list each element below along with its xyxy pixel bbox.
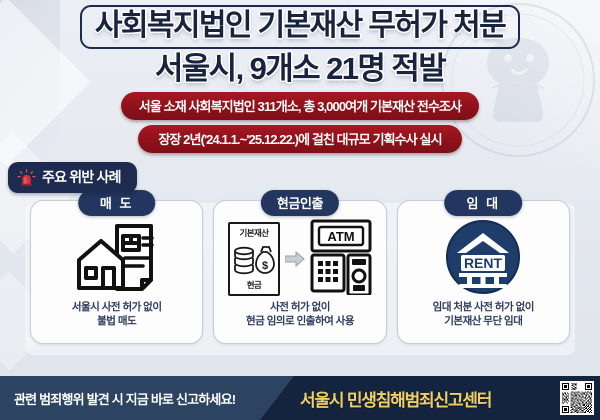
card-lease[interactable]: 임 대 RENT xyxy=(397,200,570,344)
card-sale-caption: 서울시 사전 허가 없이 불법 매도 xyxy=(31,301,202,328)
card-cash-withdrawal[interactable]: 현금인출 기본재산 xyxy=(213,200,386,344)
section-tag-label: 주요 위반 사례 xyxy=(42,167,121,187)
rent-label: RENT xyxy=(464,255,503,271)
siren-icon xyxy=(17,169,36,186)
svg-text:$: $ xyxy=(262,260,268,272)
card-lease-caption: 임대 처분 사전 허가 없이 기본재산 무단 임대 xyxy=(398,301,569,328)
violation-cards: 매 도 xyxy=(30,200,570,344)
card-cash-pill: 현금인출 xyxy=(261,190,339,216)
cash-to-atm-icon: 기본재산 $ 현금 xyxy=(228,219,372,300)
title-outline-box: 사회복지법인 기본재산 무허가 처분 xyxy=(80,5,520,49)
basic-property-box: 기본재산 $ 현금 xyxy=(228,222,280,296)
card-sale[interactable]: 매 도 xyxy=(30,200,203,344)
card-cash-caption-line1: 사전 허가 없이 xyxy=(270,301,330,313)
card-lease-pill: 임 대 xyxy=(445,190,523,216)
box-bottom-label: 현금 xyxy=(247,279,261,291)
atm-label: ATM xyxy=(327,229,354,244)
section-tag-wrap: 주요 위반 사례 xyxy=(0,162,600,193)
banner-group: 서울 소재 사회복지법인 311개소, 총 3,000여개 기본재산 전수조사 … xyxy=(0,92,600,153)
house-document-icon xyxy=(73,220,161,299)
banner-pill: 장장 2년('24.1.1.~'25.12.22.)에 걸친 대규모 기획수사 … xyxy=(138,125,461,153)
footer-bar: 관련 범죄행위 발견 시 지금 바로 신고하세요! 서울시 민생침해범죄신고센터 xyxy=(0,376,600,420)
card-cash-caption-line2: 현금 임의로 인출하여 사용 xyxy=(246,315,354,327)
box-top-label: 기본재산 xyxy=(240,227,269,239)
banner-pill: 서울 소재 사회복지법인 311개소, 총 3,000여개 기본재산 전수조사 xyxy=(121,92,479,120)
page-subtitle: 서울시, 9개소 21명 적발 xyxy=(0,51,600,86)
arrow-right-icon xyxy=(285,251,305,267)
card-cash-art: 기본재산 $ 현금 xyxy=(214,217,385,301)
card-sale-art xyxy=(31,217,202,301)
card-sale-caption-line2: 불법 매도 xyxy=(97,315,136,327)
card-sale-pill: 매 도 xyxy=(78,190,156,216)
card-lease-caption-line1: 임대 처분 사전 허가 없이 xyxy=(433,301,534,313)
footer-report-message: 관련 범죄행위 발견 시 지금 바로 신고하세요! xyxy=(14,376,235,420)
card-lease-caption-line2: 기본재산 무단 임대 xyxy=(444,315,522,327)
section-tag: 주요 위반 사례 xyxy=(8,162,137,193)
page-title: 사회복지법인 기본재산 무허가 처분 xyxy=(95,9,505,43)
card-sale-caption-line1: 서울시 사전 허가 없이 xyxy=(72,301,162,313)
poster-root: 민생사법경찰국 서울특별시 사회복지법인 기본재산 무허가 처분 서울시, 9개… xyxy=(0,0,600,420)
header: 사회복지법인 기본재산 무허가 처분 서울시, 9개소 21명 적발 xyxy=(0,0,600,86)
footer-center-name: 서울시 민생침해범죄신고센터 xyxy=(300,376,491,420)
qr-code-icon[interactable] xyxy=(560,381,594,415)
card-cash-caption: 사전 허가 없이 현금 임의로 인출하여 사용 xyxy=(214,301,385,328)
atm-icon: ATM xyxy=(310,219,372,300)
rent-building-icon: RENT xyxy=(445,219,521,300)
card-lease-art: RENT xyxy=(398,217,569,301)
